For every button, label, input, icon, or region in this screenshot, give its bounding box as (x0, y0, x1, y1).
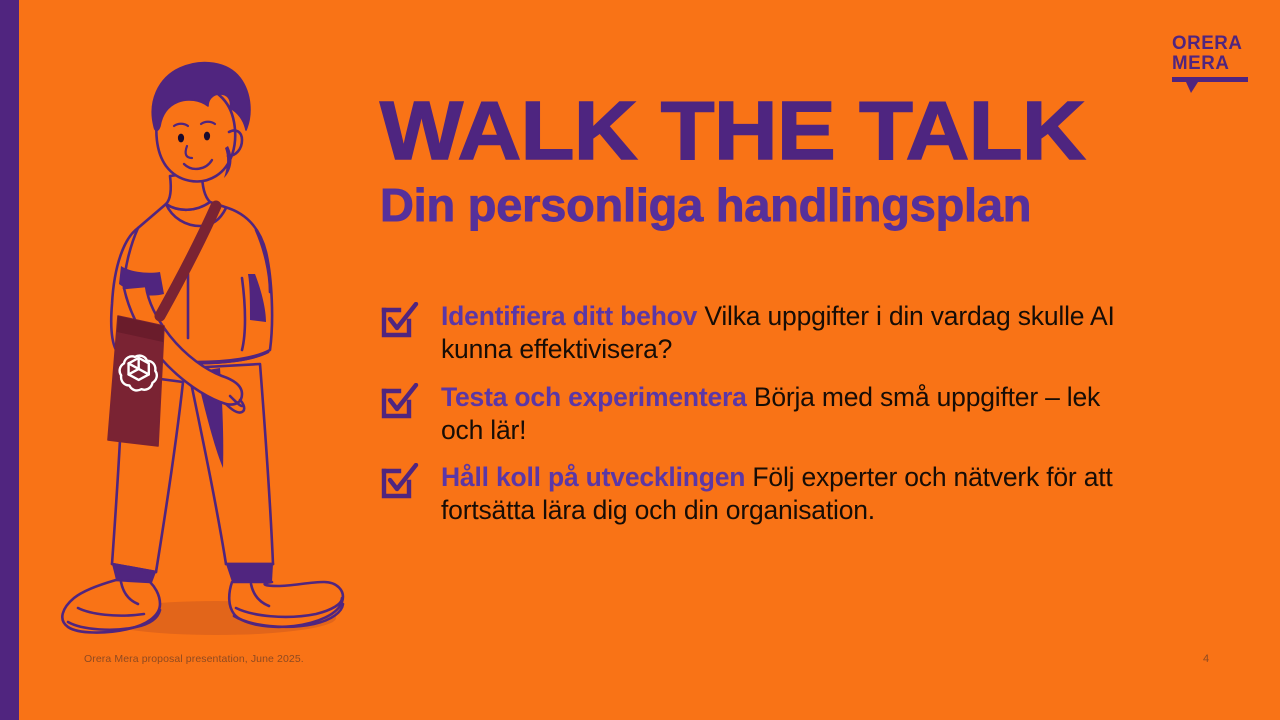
logo-line-1: ORERA (1172, 33, 1245, 53)
eye-right (204, 132, 210, 141)
list-item: Identifiera ditt behov Vilka uppgifter i… (381, 300, 1141, 366)
list-item-lead: Testa och experimentera (441, 382, 747, 412)
list-item-text: Identifiera ditt behov Vilka uppgifter i… (419, 300, 1141, 366)
page-title: WALK THE TALK (380, 92, 1207, 169)
list-item-lead: Identifiera ditt behov (441, 301, 697, 331)
ankle-shadow-front (226, 564, 273, 582)
orera-mera-logo: ORERA MERA (1172, 33, 1248, 95)
page-number: 4 (1203, 653, 1209, 665)
logo-line-2: MERA (1172, 53, 1245, 73)
eye-left (178, 134, 184, 143)
list-item-text: Testa och experimentera Börja med små up… (419, 381, 1141, 447)
page-subtitle: Din personliga handlingsplan (380, 182, 1176, 228)
left-edge-stripe (0, 0, 19, 720)
checkbox-checked-icon (381, 302, 419, 338)
walking-person-illustration (20, 16, 380, 641)
list-item: Testa och experimentera Börja med små up… (381, 381, 1141, 447)
list-item-text: Håll koll på utvecklingen Följ experter … (419, 461, 1141, 527)
headline-block: WALK THE TALK Din personliga handlingspl… (380, 92, 1160, 228)
list-item: Håll koll på utvecklingen Följ experter … (381, 461, 1141, 527)
slide-canvas: ORERA MERA WALK THE TALK Din personliga … (0, 0, 1280, 720)
list-item-lead: Håll koll på utvecklingen (441, 462, 745, 492)
footer-note: Orera Mera proposal presentation, June 2… (84, 653, 304, 665)
checkbox-checked-icon (381, 463, 419, 499)
checkbox-checked-icon (381, 383, 419, 419)
action-plan-checklist: Identifiera ditt behov Vilka uppgifter i… (381, 300, 1141, 527)
